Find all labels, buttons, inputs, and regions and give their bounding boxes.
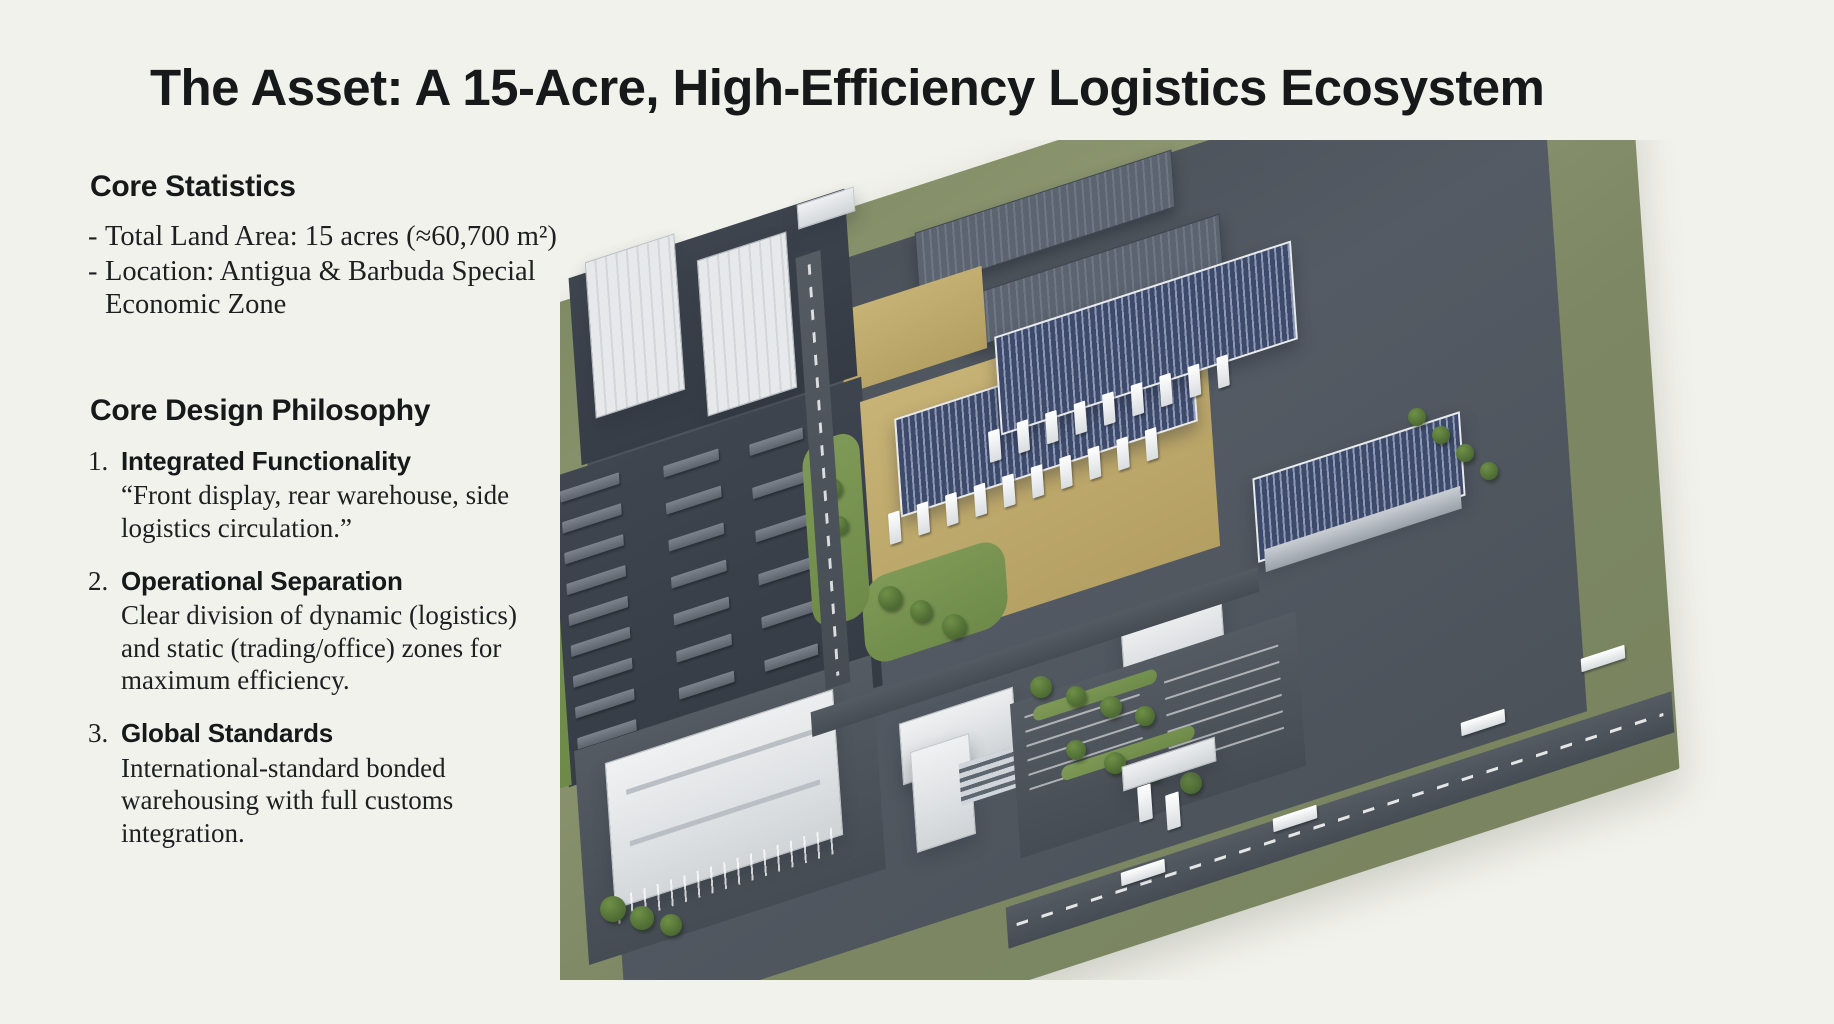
- truck: [1002, 473, 1016, 508]
- list-item: 1. Integrated Functionality “Front displ…: [88, 444, 558, 544]
- trailer: [571, 627, 631, 657]
- trailer: [761, 600, 815, 629]
- truck: [1216, 354, 1230, 389]
- truck: [1165, 791, 1181, 830]
- truck: [1159, 373, 1173, 408]
- trailer: [671, 559, 727, 588]
- core-statistics-heading: Core Statistics: [90, 170, 558, 204]
- philosophy-item-title: Integrated Functionality: [121, 444, 558, 478]
- truck: [1088, 445, 1102, 480]
- trailer: [564, 534, 624, 564]
- core-statistic-text: Total Land Area: 15 acres (≈60,700 m²): [105, 220, 558, 254]
- site-render-image: [560, 140, 1834, 980]
- core-statistics-section: Core Statistics - Total Land Area: 15 ac…: [88, 170, 558, 322]
- trailer: [568, 596, 628, 626]
- tree: [660, 914, 682, 936]
- truck: [1045, 410, 1059, 445]
- philosophy-item-title: Operational Separation: [121, 564, 558, 598]
- truck: [988, 428, 1002, 463]
- trailer: [668, 522, 724, 551]
- truck: [974, 483, 988, 518]
- philosophy-item-title: Global Standards: [121, 716, 558, 750]
- trailer: [755, 514, 809, 543]
- tree: [1408, 408, 1426, 426]
- core-statistics-list: - Total Land Area: 15 acres (≈60,700 m²)…: [88, 220, 558, 322]
- list-item: 3. Global Standards International-standa…: [88, 716, 558, 848]
- tree: [600, 896, 626, 922]
- tree: [910, 600, 932, 622]
- bullet-dash: -: [88, 220, 105, 254]
- trailer: [764, 643, 818, 672]
- list-number: 2.: [88, 564, 108, 599]
- tree: [1030, 676, 1052, 698]
- list-item: - Location: Antigua & Barbuda Special Ec…: [88, 255, 558, 322]
- truck: [1131, 382, 1145, 417]
- core-design-philosophy-section: Core Design Philosophy 1. Integrated Fun…: [88, 394, 558, 849]
- trailer: [752, 471, 806, 500]
- tree: [1180, 772, 1202, 794]
- render-canvas: [560, 140, 1834, 980]
- tree: [1480, 462, 1498, 480]
- truck: [1059, 455, 1073, 490]
- truck: [1102, 391, 1116, 426]
- trailer: [573, 657, 633, 687]
- bullet-dash: -: [88, 255, 105, 289]
- truck: [1188, 363, 1202, 398]
- truck: [945, 492, 959, 527]
- tree: [630, 906, 654, 930]
- truck: [1145, 427, 1159, 462]
- trailer: [663, 448, 719, 477]
- trailer: [566, 565, 626, 595]
- tree: [942, 614, 966, 638]
- slide-root: The Asset: A 15-Acre, High-Efficiency Lo…: [0, 0, 1834, 1024]
- tree: [1456, 444, 1474, 462]
- trailer: [758, 557, 812, 586]
- philosophy-item-body: “Front display, rear warehouse, side log…: [121, 479, 558, 544]
- list-number: 1.: [88, 444, 108, 479]
- core-design-philosophy-heading: Core Design Philosophy: [90, 394, 558, 428]
- tree: [1066, 740, 1086, 760]
- truck: [888, 510, 902, 545]
- west-warehouse-2: [697, 231, 797, 416]
- trailer: [679, 671, 735, 700]
- trailer: [749, 427, 803, 456]
- page-title: The Asset: A 15-Acre, High-Efficiency Lo…: [150, 58, 1710, 117]
- trailer: [560, 472, 620, 502]
- truck: [917, 501, 931, 536]
- list-item: 2. Operational Separation Clear division…: [88, 564, 558, 696]
- truck: [1031, 464, 1045, 499]
- trailer: [673, 596, 729, 625]
- trailer: [575, 688, 635, 718]
- tree: [878, 586, 902, 610]
- list-item: - Total Land Area: 15 acres (≈60,700 m²): [88, 220, 558, 254]
- truck: [1017, 419, 1031, 454]
- tree: [1135, 706, 1155, 726]
- list-number: 3.: [88, 716, 108, 751]
- trailer: [676, 634, 732, 663]
- core-statistic-text: Location: Antigua & Barbuda Special Econ…: [105, 255, 558, 322]
- tree: [1100, 696, 1122, 718]
- philosophy-item-body: Clear division of dynamic (logistics) an…: [121, 599, 558, 696]
- truck: [1074, 401, 1088, 436]
- trailer: [562, 503, 622, 533]
- trailer: [666, 485, 722, 514]
- west-warehouse-1: [585, 233, 685, 418]
- left-content-column: Core Statistics - Total Land Area: 15 ac…: [88, 170, 558, 869]
- truck: [1137, 783, 1153, 822]
- philosophy-list: 1. Integrated Functionality “Front displ…: [88, 444, 558, 849]
- tree: [1066, 686, 1086, 706]
- philosophy-item-body: International-standard bonded warehousin…: [121, 752, 558, 849]
- truck: [1116, 436, 1130, 471]
- tree: [1432, 426, 1450, 444]
